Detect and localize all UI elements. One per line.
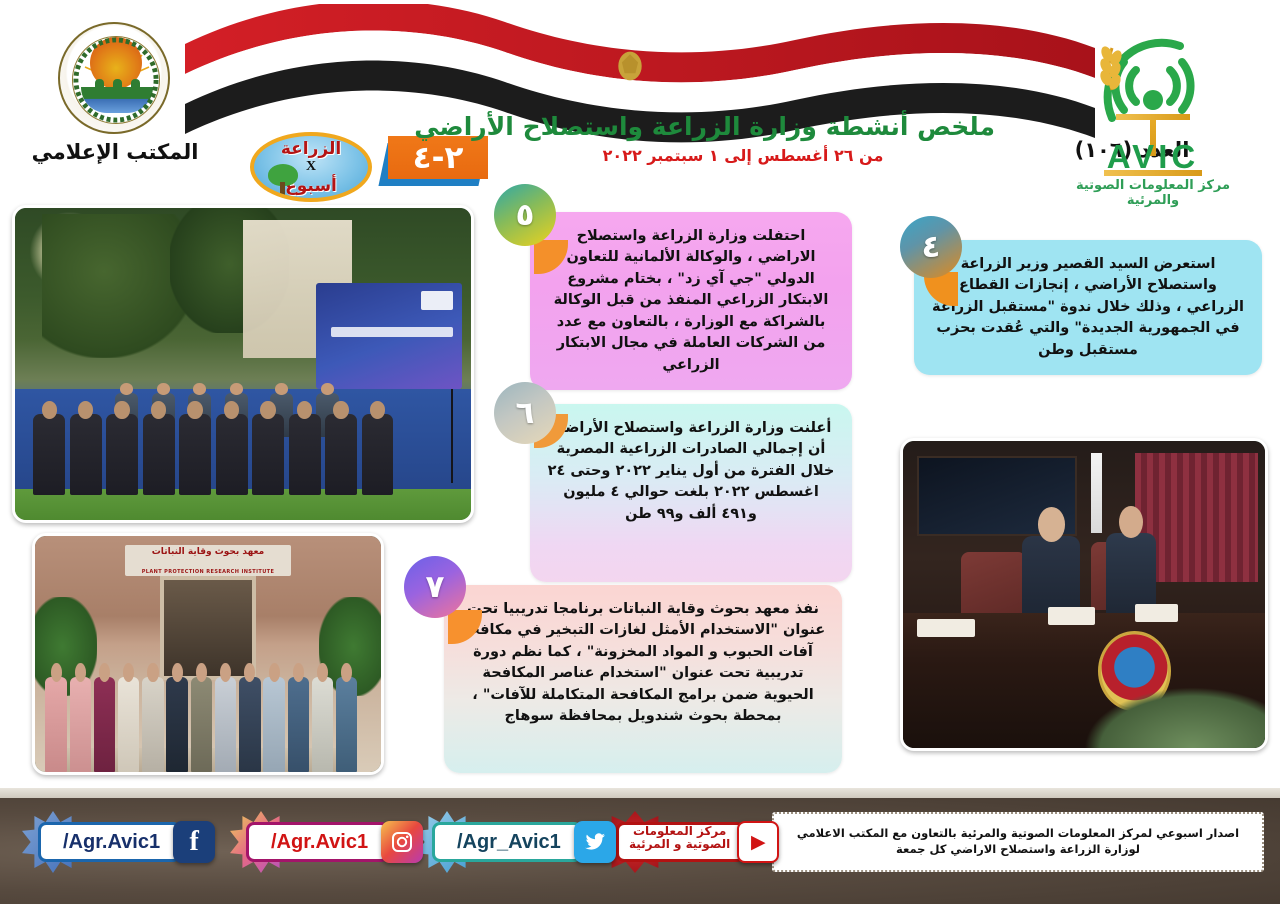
eagle-of-saladin-icon: [618, 52, 641, 81]
avic-base: [1116, 114, 1190, 120]
seated-person: [179, 414, 211, 495]
footer-disclaimer: اصدار اسبوعي لمركز المعلومات الصوتية وال…: [772, 812, 1264, 872]
seated-person: [325, 414, 357, 495]
date-range: من ٢٦ أغسطس إلى ١ سبتمبر ٢٠٢٢: [578, 146, 908, 165]
news-card-7: نفذ معهد بحوث وقاية النباتات برنامجا تدر…: [444, 585, 842, 773]
malr-ministry-emblem: MALR: [58, 22, 170, 134]
page-header: MALR المكتب الإعلا: [0, 0, 1280, 200]
audience: [15, 364, 471, 495]
youtube-handle-line1: مركز المعلومات: [633, 825, 726, 838]
person: [239, 677, 260, 772]
issue-range-tag: ٢-٤: [383, 136, 488, 186]
flag: [1091, 453, 1102, 533]
twitter-handle[interactable]: /Agr_Avic1: [432, 822, 582, 862]
social-link-twitter[interactable]: /Agr_Avic1: [432, 820, 616, 864]
instagram-handle[interactable]: /Agr.Avic1: [246, 822, 389, 862]
camera-tripod: [451, 389, 453, 483]
person: [312, 677, 333, 772]
seated-person: [362, 414, 394, 495]
institute-sign-arabic: معهد بحوث وقاية النباتات: [125, 547, 291, 557]
person: [263, 677, 284, 772]
youtube-handle-line2: الصوتية و المرئية: [629, 838, 730, 851]
avic-caption: مركز المعلومات الصوتية والمرئية: [1050, 178, 1256, 208]
person: [142, 677, 163, 772]
footer-disclaimer-text: اصدار اسبوعي لمركز المعلومات الصوتية وال…: [784, 826, 1252, 857]
seated-person: [106, 414, 138, 495]
seated-person: [289, 414, 321, 495]
avic-broadcast-icon: [1068, 18, 1238, 128]
infographic-page: MALR المكتب الإعلا: [0, 0, 1280, 904]
news-badge-4: ٤: [900, 216, 962, 278]
person: [336, 677, 357, 772]
youtube-handle[interactable]: مركز المعلومات الصوتية و المرئية: [616, 822, 745, 862]
person: [70, 677, 91, 772]
photo-institute-group: معهد بحوث وقاية النباتات PLANT PROTECTIO…: [32, 533, 384, 775]
group-people: [35, 640, 381, 772]
person: [288, 677, 309, 772]
tree-icon: [266, 164, 300, 198]
institute-signboard: معهد بحوث وقاية النباتات PLANT PROTECTIO…: [125, 545, 291, 576]
news-badge-6: ٦: [494, 382, 556, 444]
footer-top-strip: [0, 788, 1280, 798]
nameplate: [1048, 607, 1095, 625]
institute-sign-english: PLANT PROTECTION RESEARCH INSTITUTE: [125, 569, 291, 575]
issue-tag-label: ٢-٤: [388, 136, 488, 179]
seated-person: [252, 414, 284, 495]
person: [215, 677, 236, 772]
media-office-label: المكتب الإعلامي: [30, 140, 200, 164]
youtube-icon: ▶: [737, 821, 779, 863]
social-link-youtube[interactable]: ▶ مركز المعلومات الصوتية و المرئية: [616, 820, 779, 864]
malr-emblem-inner: MALR: [72, 36, 160, 124]
decorative-plants: [1084, 687, 1265, 748]
person: [166, 677, 187, 772]
person: [94, 677, 115, 772]
person: [45, 677, 66, 772]
banner-logo: [421, 291, 453, 310]
seated-person: [33, 414, 65, 495]
tree-trunk: [280, 182, 285, 196]
news-badge-7: ٧: [404, 556, 466, 618]
person: [191, 677, 212, 772]
page-footer: f /Agr.Avic1 /Agr.Avic1 /Agr_Avic1: [0, 788, 1280, 904]
person: [118, 677, 139, 772]
avic-logo: AVIC مركز المعلومات الصوتية والمرئية: [1068, 18, 1238, 193]
photo-innovation-event: صورة فعالية ختام مشروع الابتكار الزراعي: [12, 205, 474, 523]
instagram-icon: [381, 821, 423, 863]
page-title: ملخص أنشطة وزارة الزراعة واستصلاح الأراض…: [435, 112, 995, 141]
social-link-instagram[interactable]: /Agr.Avic1: [246, 820, 423, 864]
seated-person: [70, 414, 102, 495]
news-card-4: استعرض السيد القصير وزير الزراعة واستصلا…: [914, 240, 1262, 375]
weekly-badge-line1: الزراعة: [254, 139, 368, 159]
avic-underline: [1104, 170, 1202, 176]
seated-person: [216, 414, 248, 495]
banner-text: [331, 327, 454, 337]
facebook-icon: f: [173, 821, 215, 863]
weekly-agriculture-badge: الزراعة X أسبوع: [250, 132, 372, 202]
seated-person: [143, 414, 175, 495]
news-badge-5: ٥: [494, 184, 556, 246]
twitter-icon: [574, 821, 616, 863]
news-card-5: احتفلت وزارة الزراعة واستصلاح الاراضي ، …: [530, 212, 852, 390]
nameplate: [1135, 604, 1178, 622]
facebook-handle[interactable]: /Agr.Avic1: [38, 822, 181, 862]
social-link-facebook[interactable]: f /Agr.Avic1: [38, 820, 215, 864]
wheat-spike-icon: [1098, 45, 1124, 92]
news-card-6: أعلنت وزارة الزراعة واستصلاح الأراضي أن …: [530, 404, 852, 582]
nameplate: [917, 619, 975, 637]
laurel-wreath-icon: [73, 37, 159, 123]
photo-press-conference: صورة ندوة مستقبل الزراعة في الجمهورية ال…: [900, 438, 1268, 751]
